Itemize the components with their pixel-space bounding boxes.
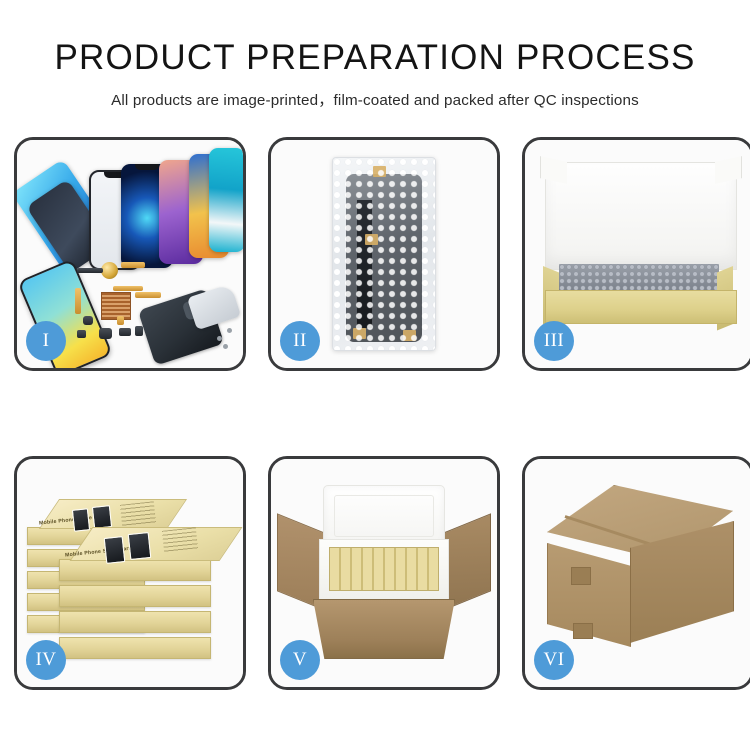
component-button-icon [119, 328, 131, 336]
step-badge-6: VI [534, 640, 574, 680]
component-camera-icon [99, 328, 112, 339]
carton-tape-tab-icon [571, 567, 591, 585]
stacked-box-side [59, 559, 211, 581]
flex-cable-icon [117, 316, 124, 325]
stacked-box-top [39, 499, 187, 529]
stacked-box-side [59, 585, 211, 607]
component-bar-icon [77, 268, 103, 273]
carton-tape-tab-icon [573, 623, 593, 639]
process-step-grid: I II [14, 137, 736, 690]
notch-icon [135, 164, 159, 170]
foam-box-lid-icon [323, 485, 445, 547]
flex-cable-icon [135, 292, 161, 298]
process-step-6[interactable]: VI [522, 456, 750, 690]
process-step-1[interactable]: I [14, 137, 246, 371]
stacked-box-top [70, 527, 243, 561]
box-product-thumbnail [72, 508, 90, 532]
stacked-box-side [59, 611, 211, 633]
box-product-thumbnail [92, 505, 112, 529]
yellow-boxes-inside-icon [329, 547, 439, 591]
screw-icon [217, 336, 222, 341]
flex-cable-icon [75, 288, 81, 314]
process-step-4[interactable]: Mobile Phone Spare Parts Mobile Phone Sp… [14, 456, 246, 690]
flex-cable-icon [113, 286, 143, 291]
process-step-5[interactable]: V [268, 456, 500, 690]
step-badge-1: I [26, 321, 66, 361]
stacked-box-side [59, 637, 211, 659]
bubble-texture-icon [333, 158, 435, 350]
product-preparation-infographic: PRODUCT PREPARATION PROCESS All products… [0, 0, 750, 750]
foam-lid-icon [545, 162, 737, 270]
vibration-motor-icon [101, 262, 118, 279]
header: PRODUCT PREPARATION PROCESS All products… [0, 0, 750, 110]
step-badge-4: IV [26, 640, 66, 680]
box-spec-text-block [120, 501, 156, 526]
screw-icon [227, 328, 232, 333]
component-sim-tray-icon [135, 326, 143, 336]
component-chip-icon [77, 330, 86, 338]
phone-display-cyan-icon [209, 148, 245, 252]
page-subtitle: All products are image-printed，film-coat… [0, 88, 750, 110]
step-badge-3: III [534, 321, 574, 361]
component-speaker-icon [83, 316, 93, 325]
process-step-3[interactable]: III [522, 137, 750, 371]
box-product-thumbnail [104, 536, 126, 564]
step-badge-5: V [280, 640, 320, 680]
box-front-wall-icon [545, 290, 737, 324]
bubble-wrap-lining-icon [559, 264, 719, 292]
screw-icon [223, 344, 228, 349]
circuit-board-icon [101, 292, 131, 320]
flex-cable-icon [121, 262, 145, 268]
bubble-wrap-bag-icon [332, 157, 436, 351]
page-title: PRODUCT PREPARATION PROCESS [0, 40, 750, 77]
carton-front-panel-icon [313, 599, 455, 659]
step-badge-2: II [280, 321, 320, 361]
box-product-thumbnail [128, 532, 152, 560]
process-step-2[interactable]: II [268, 137, 500, 371]
box-spec-text-block [162, 527, 198, 552]
